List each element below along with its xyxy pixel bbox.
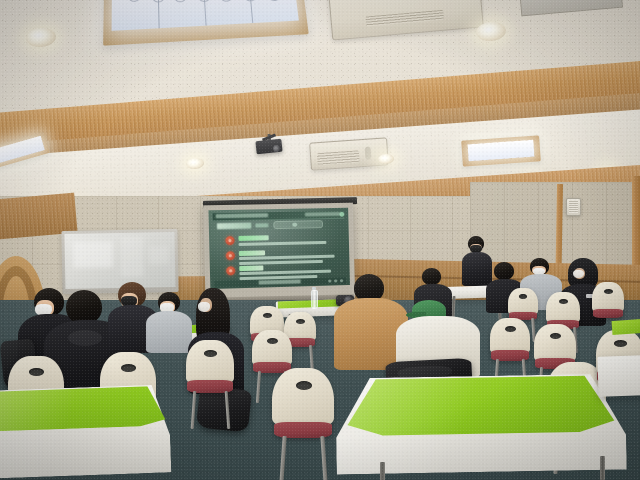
bottle-cap: [312, 287, 316, 290]
slide-subtitle: [255, 223, 268, 227]
instructor-torso: [462, 252, 492, 286]
table-far-right: [597, 355, 640, 397]
classroom-photo: [0, 0, 640, 480]
water-bottle: [311, 290, 318, 309]
whiteboard: [61, 229, 178, 294]
table-right-sliver: [612, 319, 640, 335]
slide-bullet-2-heading: [239, 250, 265, 256]
slide-header-right-text: [305, 212, 341, 217]
slide-bullet-1-heading: [238, 235, 268, 241]
fluorescent-panel-right: [461, 135, 541, 166]
slide-header-badge: [273, 220, 323, 229]
table-front-left: [0, 384, 172, 480]
wall-mounted-speaker: [566, 198, 581, 216]
skylight-light-surface: [112, 0, 299, 31]
slide-header-dot-icon: [339, 211, 344, 216]
table-foreground: [335, 373, 627, 480]
whiteboard-surface: [65, 232, 176, 289]
slide-bullet-3-heading: [239, 265, 263, 271]
slide-surface: [208, 208, 350, 289]
projection-screen[interactable]: [203, 203, 355, 303]
slide-title: [217, 223, 251, 230]
ac-cassette-mid-right: [309, 137, 389, 170]
